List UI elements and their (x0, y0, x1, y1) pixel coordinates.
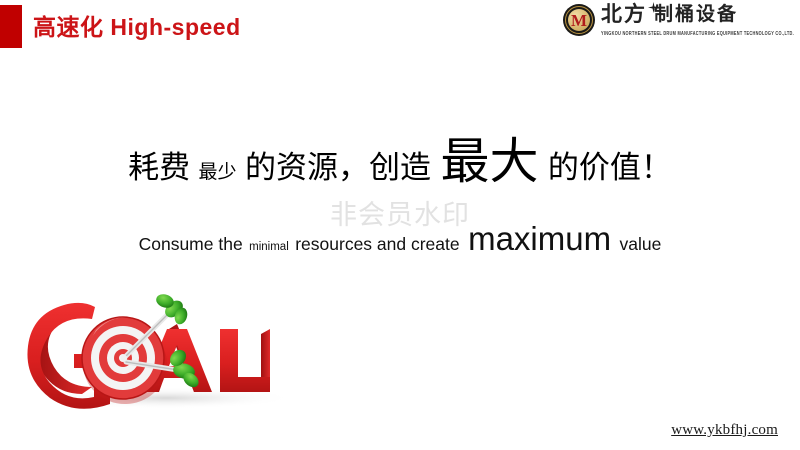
page-title: 高速化 High-speed (33, 12, 241, 42)
header-accent-bar (0, 5, 22, 48)
sparkle-icon (648, 0, 659, 11)
headline-cn-maximum: 最大 (435, 138, 543, 187)
headline-cn-part3: 的价值！ (548, 152, 672, 183)
headline-en-part3: value (620, 236, 662, 254)
headline-chinese: 耗费 最少 的资源，创造 最大 的价值！ (0, 138, 800, 187)
slide-canvas: 高速化 High-speed M 北方 制桶设备 (0, 0, 800, 450)
logo-brand-primary: 北方 (601, 3, 647, 27)
headline-cn-part2: 的资源，创造 (245, 152, 431, 183)
slide-header: 高速化 High-speed M 北方 制桶设备 (0, 0, 800, 55)
footer-website-url[interactable]: www.ykbfhj.com (671, 422, 778, 439)
headline-en-maximum: maximum (464, 222, 615, 255)
headline-en-part2: resources and create (295, 236, 459, 254)
logo-brand-secondary: 制桶设备 (654, 3, 738, 27)
headline-en-part1: Consume the (139, 236, 243, 254)
logo-english-subtitle: YINGKOU NORTHERN STEEL DRUM MANUFACTURIN… (601, 29, 794, 36)
headline-en-minimal: minimal (247, 242, 291, 254)
logo-word-row: 北方 制桶设备 (601, 3, 794, 27)
headline-cn-part1: 耗费 (128, 152, 190, 183)
logo-emblem-icon: M (563, 4, 595, 36)
emblem-letter: M (563, 4, 595, 36)
logo-wordmark: 北方 制桶设备 YINGKOU NORTHERN STEEL DRUM MANU… (601, 3, 794, 34)
headline-cn-minimal: 最少 (195, 163, 241, 182)
company-logo: M 北方 制桶设备 YINGKOU NORTHERN STEEL DRUM MA… (563, 3, 794, 45)
goal-illustration (18, 292, 308, 410)
headline-english: Consume the minimal resources and create… (0, 222, 800, 255)
